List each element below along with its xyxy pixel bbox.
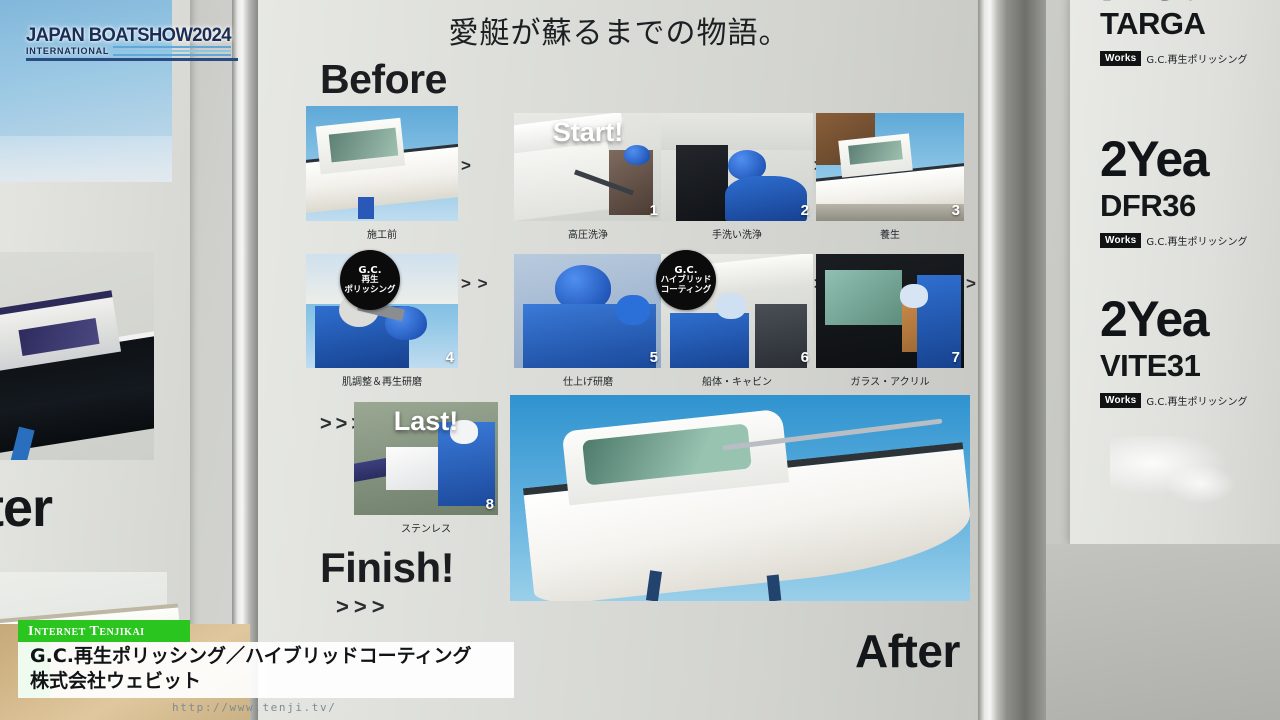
- badge-polishing: G.C. 再生 ポリッシング: [340, 250, 400, 310]
- caption-product-name: G.C.再生ポリッシング／ハイブリッドコーティング: [30, 641, 471, 668]
- photo-row1-3: 2: [661, 113, 813, 221]
- entry1-partial-top: Prod: [1100, 0, 1247, 2]
- photo-caption-row1-2: 高圧洗浄: [514, 226, 662, 241]
- caption-channel-label: Internet Tenjikai: [28, 624, 145, 640]
- frame-gap-right: [1008, 0, 1046, 720]
- event-logo: JAPAN BOATSHOW2024 INTERNATIONAL: [26, 26, 238, 61]
- entry3-headline-big: 2Yea: [1100, 296, 1247, 344]
- photo-caption-row2-4: ガラス・アクリル: [816, 373, 964, 388]
- entry3-works-row: Works G.C.再生ポリッシング: [1100, 393, 1247, 408]
- photo-row1-2: Start! 1: [514, 113, 662, 221]
- works-text: G.C.再生ポリッシング: [1146, 393, 1247, 408]
- screenshot-root: ter 愛艇が蘇るまでの物語。 Before 施工前 > Start!: [0, 0, 1280, 720]
- works-tag: Works: [1100, 51, 1141, 66]
- worker-body: [670, 313, 749, 368]
- left-poster: ter: [0, 0, 190, 694]
- photo-overlay-last: Last!: [394, 406, 459, 437]
- finish-arrows: >>>: [336, 594, 390, 620]
- photo-caption-row2-3: 船体・キャビン: [661, 373, 813, 388]
- works-tag: Works: [1100, 393, 1141, 408]
- glove-icon: [716, 293, 746, 319]
- photo-row1-1: [306, 106, 458, 221]
- photo-row2-4: 7: [816, 254, 964, 368]
- entry1-works-row: Works G.C.再生ポリッシング: [1100, 51, 1247, 66]
- photo-stand: [358, 197, 374, 219]
- photo-number: 5: [650, 349, 658, 366]
- row2-arrow-3: >: [966, 274, 977, 294]
- photo-caption-row1-3: 手洗い洗浄: [661, 226, 813, 241]
- hero-stand-right: [766, 574, 781, 601]
- photo-caption-row2-1: 肌調整＆再生研磨: [296, 373, 468, 388]
- photo-number: 4: [446, 349, 454, 366]
- works-text: G.C.再生ポリッシング: [1146, 51, 1247, 66]
- before-label: Before: [320, 56, 447, 103]
- entry2-headline-big: 2Yea: [1100, 136, 1247, 184]
- glove-icon: [616, 295, 650, 325]
- frame-post-left: [232, 0, 258, 720]
- works-tag: Works: [1100, 233, 1141, 248]
- photo-caption-row2-2: 仕上げ研磨: [514, 373, 662, 388]
- entry2-headline: DFR36: [1100, 188, 1247, 224]
- photo-number: 2: [801, 202, 809, 219]
- photo-number: 6: [801, 349, 809, 366]
- row1-arrow-1: >: [461, 156, 472, 176]
- photo-hull-dark: [755, 304, 807, 368]
- photo-number: 8: [486, 496, 494, 513]
- photo-caption-row3-1: ステンレス: [354, 520, 498, 535]
- glove-icon: [900, 284, 928, 308]
- entry3-headline: VITE31: [1100, 348, 1247, 384]
- caption-company-name: 株式会社ウェビット: [30, 666, 201, 693]
- after-label: After: [855, 624, 960, 678]
- poster-glare-secondary: [1166, 464, 1236, 504]
- logo-underline: [26, 58, 238, 61]
- photo-number: 1: [650, 202, 658, 219]
- finish-label: Finish!: [320, 544, 454, 592]
- entry2-works-row: Works G.C.再生ポリッシング: [1100, 233, 1247, 248]
- right-poster-entry-1: Prod TARGA Works G.C.再生ポリッシング: [1100, 0, 1247, 66]
- photo-overlay-start: Start!: [553, 117, 624, 148]
- badge-line3: コーティング: [661, 286, 712, 296]
- photo-row1-4: 3: [816, 113, 964, 221]
- works-text: G.C.再生ポリッシング: [1146, 233, 1247, 248]
- event-logo-subtitle: INTERNATIONAL: [26, 46, 109, 56]
- photo-row3-1: Last! 8: [354, 402, 498, 515]
- wall-below-right-poster: [1046, 544, 1280, 720]
- worker-body: [725, 176, 807, 221]
- photo-number: 3: [952, 202, 960, 219]
- right-poster: Prod TARGA Works G.C.再生ポリッシング 2Yea DFR36…: [1070, 0, 1280, 544]
- photo-caption-row1-1: 施工前: [306, 226, 458, 241]
- event-logo-subrow: INTERNATIONAL: [26, 46, 238, 56]
- photo-upper: [661, 113, 813, 150]
- main-poster: 愛艇が蘇るまでの物語。 Before 施工前 > Start! 1 高圧洗浄 >: [258, 0, 980, 720]
- badge-hybrid-coating: G.C. ハイブリッド コーティング: [656, 250, 716, 310]
- photo-after-hero: [510, 395, 970, 601]
- right-poster-entry-2: 2Yea DFR36 Works G.C.再生ポリッシング: [1100, 136, 1247, 248]
- left-poster-photo-boat: [0, 252, 154, 460]
- logo-stripes-icon: [113, 46, 231, 56]
- right-poster-entry-3: 2Yea VITE31 Works G.C.再生ポリッシング: [1100, 296, 1247, 408]
- photo-caption-row1-4: 養生: [816, 226, 964, 241]
- photo-windshield: [825, 270, 902, 325]
- photo-person-dark: [676, 145, 728, 221]
- poster-title: 愛艇が蘇るまでの物語。: [258, 8, 980, 52]
- photo-number: 7: [952, 349, 960, 366]
- photo-row2-2: 5: [514, 254, 662, 368]
- badge-line3: ポリッシング: [344, 286, 395, 296]
- frame-post-right: [978, 0, 1008, 720]
- photo-ground: [816, 204, 964, 221]
- row2-arrow-1: > >: [461, 274, 489, 294]
- event-logo-title: JAPAN BOATSHOW2024: [26, 26, 232, 45]
- caption-url: http://www.tenji.tv/: [172, 701, 336, 714]
- helmet-icon: [624, 145, 650, 165]
- left-poster-partial-text: ter: [0, 481, 52, 535]
- entry1-headline: TARGA: [1100, 6, 1247, 42]
